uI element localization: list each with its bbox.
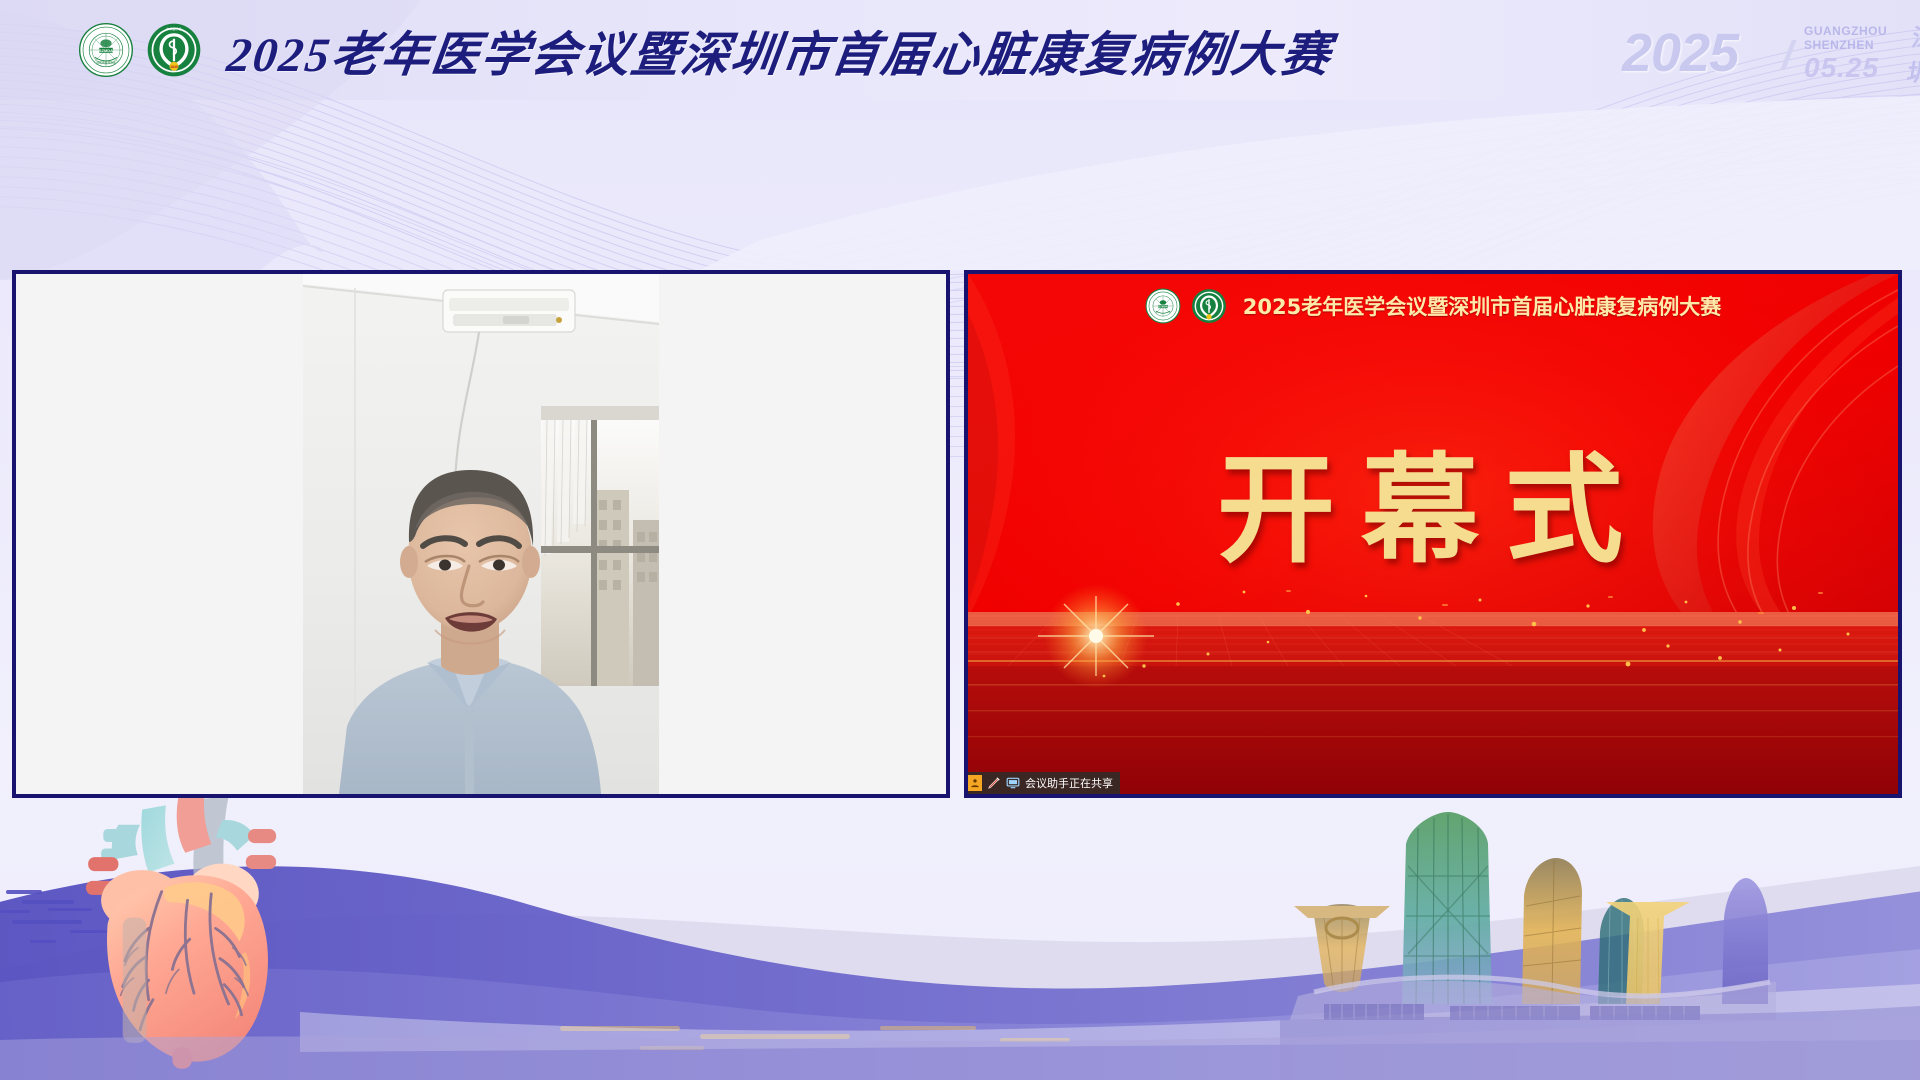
date-badge: 2025 / GUANGZHOU SHENZHEN 05.25 深圳	[1622, 8, 1872, 88]
szmda-logo-icon: SZMDA 深圳市医师协会	[78, 22, 134, 78]
slide-szmda-logo-icon: SZMDA	[1145, 288, 1181, 324]
page-header: SZMDA 深圳市医师协会 1849 中华医学会	[0, 0, 1920, 100]
slide-medical-association-logo-icon	[1191, 288, 1227, 324]
badge-city-cn: 深圳	[1905, 18, 1920, 88]
badge-year: 2025	[1622, 22, 1738, 84]
badge-city-en-line1: GUANGZHOU	[1804, 24, 1887, 38]
slide-header: SZMDA 2025老年医学会议暨深圳市首届心脏康复病例大赛	[968, 288, 1898, 324]
badge-city-en: GUANGZHOU SHENZHEN	[1804, 24, 1887, 52]
badge-city-en-line2: SHENZHEN	[1804, 38, 1874, 52]
slide-main-title: 开幕式	[968, 449, 1898, 573]
monitor-icon[interactable]	[1006, 776, 1020, 790]
header-logo-group: SZMDA 深圳市医师协会 1849 中华医学会	[78, 22, 202, 78]
svg-text:SZMDA: SZMDA	[1158, 306, 1167, 309]
speaker-video-feed[interactable]	[303, 274, 659, 794]
page-title: 2025老年医学会议暨深圳市首届心脏康复病例大赛	[224, 15, 1337, 85]
slide-header-title: 2025老年医学会议暨深圳市首届心脏康复病例大赛	[1243, 291, 1721, 321]
svg-text:1849: 1849	[170, 65, 178, 69]
svg-text:深圳市医师协会: 深圳市医师协会	[96, 60, 116, 64]
shared-slide-panel[interactable]: SZMDA 2025老年医学会议暨深圳市首届心脏康复病例大赛 开幕式	[964, 270, 1902, 798]
pen-icon[interactable]	[987, 776, 1001, 790]
sharing-status-bar[interactable]: 会议助手正在共享	[968, 772, 1120, 794]
svg-text:SZMDA: SZMDA	[99, 48, 113, 53]
speaker-video-panel[interactable]	[12, 270, 950, 798]
screen-root: SZMDA 深圳市医师协会 1849 中华医学会	[0, 0, 1920, 1080]
footer-illustration	[0, 790, 1920, 1080]
medical-association-logo-icon: 1849 中华医学会	[146, 22, 202, 78]
badge-slash: /	[1782, 34, 1793, 79]
video-letterbox	[16, 274, 946, 794]
user-icon	[968, 775, 982, 791]
sharing-status-text: 会议助手正在共享	[1025, 775, 1113, 791]
svg-text:中华医学会: 中华医学会	[166, 26, 181, 31]
badge-month-day: 05.25	[1804, 52, 1879, 84]
